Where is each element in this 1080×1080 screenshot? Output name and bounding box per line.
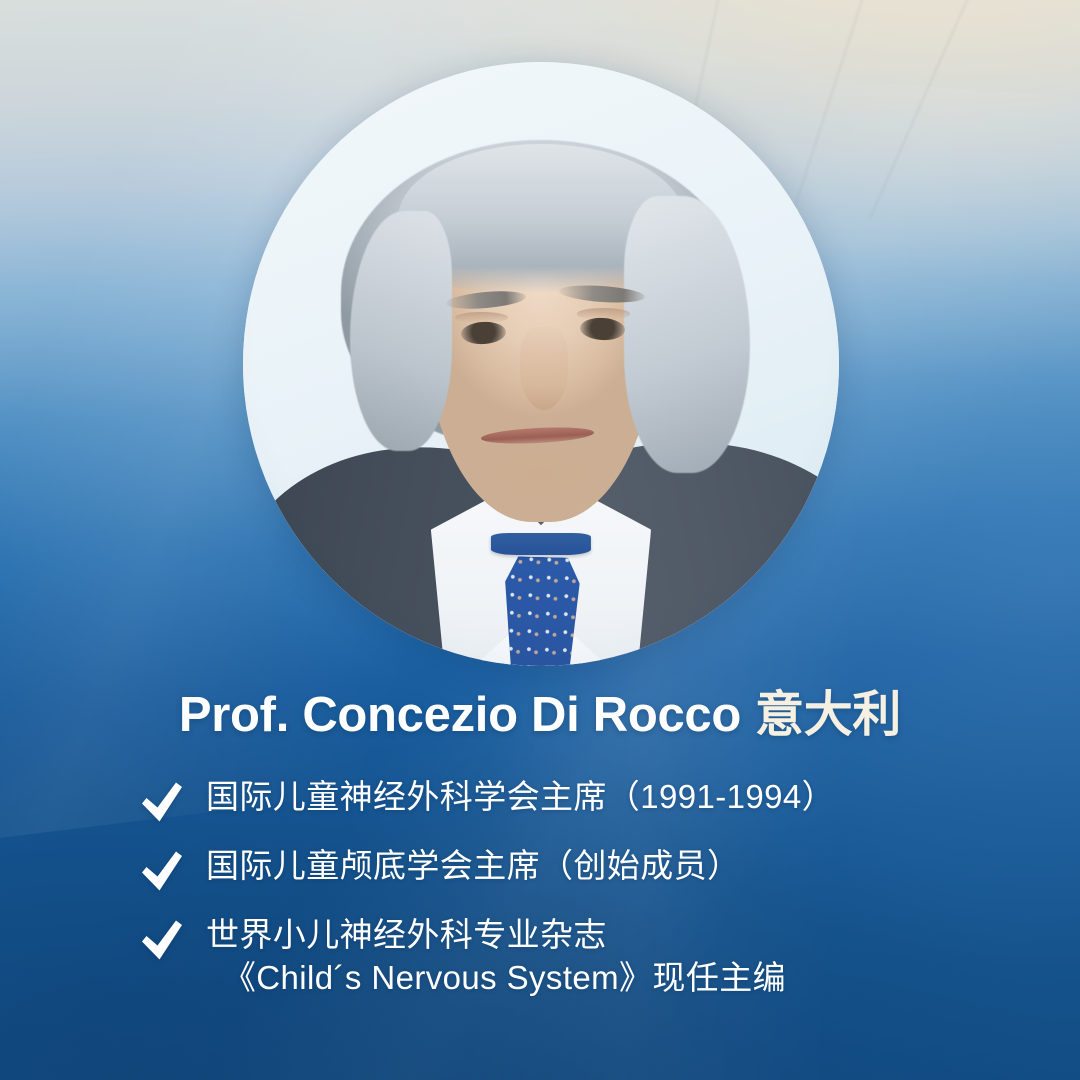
list-item: 世界小儿神经外科专业杂志 《Child´s Nervous System》现任主…: [140, 914, 1016, 1000]
list-item: 国际儿童神经外科学会主席（1991-1994）: [140, 776, 1016, 823]
check-icon: [140, 919, 184, 961]
list-item: 国际儿童颅底学会主席（创始成员）: [140, 845, 1016, 892]
credential-text: 国际儿童神经外科学会主席（1991-1994）: [206, 776, 835, 819]
check-icon: [140, 850, 184, 892]
check-icon: [140, 781, 184, 823]
speaker-name: Prof. Concezio Di Rocco意大利: [64, 690, 1016, 742]
speaker-portrait: [243, 62, 839, 666]
credential-text: 世界小儿神经外科专业杂志 《Child´s Nervous System》现任主…: [206, 914, 786, 1000]
portrait-vignette: [243, 62, 839, 666]
profile-content: Prof. Concezio Di Rocco意大利 国际儿童神经外科学会主席（…: [0, 690, 1080, 1000]
speaker-country: 意大利: [755, 688, 901, 742]
credential-text: 国际儿童颅底学会主席（创始成员）: [206, 845, 740, 888]
speaker-name-latin: Prof. Concezio Di Rocco: [179, 688, 741, 742]
speaker-profile-poster: Prof. Concezio Di Rocco意大利 国际儿童神经外科学会主席（…: [0, 0, 1080, 1080]
credentials-list: 国际儿童神经外科学会主席（1991-1994） 国际儿童颅底学会主席（创始成员）…: [64, 776, 1016, 1000]
